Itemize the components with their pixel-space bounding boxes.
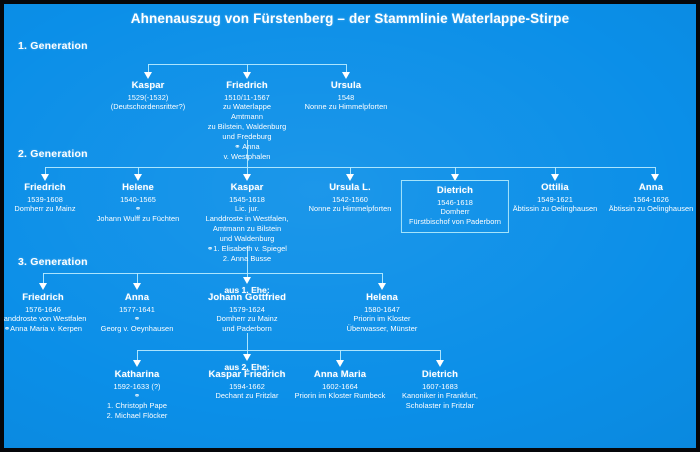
person-node-g2-anna[interactable]: Anna 1564-1626 Äbtissin zu Oelinghausen [609, 182, 694, 214]
person-name: Anna [609, 182, 694, 195]
person-marriage: ⚭ [101, 314, 174, 324]
person-name: Kaspar [206, 182, 289, 195]
person-detail: (Deutschordensritter?) [111, 102, 186, 112]
person-detail: 1592-1633 (?) [107, 382, 168, 392]
person-detail: 1529(-1532) [111, 93, 186, 103]
person-detail: 1579-1624 [208, 305, 286, 315]
person-node-g2-ursula-l[interactable]: Ursula L. 1542-1560 Nonne zu Himmelpfort… [309, 182, 392, 214]
person-detail: 1576-1646 [0, 305, 86, 315]
person-detail: 1564-1626 [609, 195, 694, 205]
person-detail: Priorin im Kloster Rumbeck [295, 391, 386, 401]
person-node-g3-anna-maria[interactable]: Anna Maria 1602-1664 Priorin im Kloster … [295, 369, 386, 401]
person-detail: Landdroste in Westfalen, [206, 214, 289, 224]
person-name: Ottilia [513, 182, 598, 195]
person-name: Friedrich [208, 80, 287, 93]
person-detail: 1577-1641 [101, 305, 174, 315]
person-name: Kaspar [111, 80, 186, 93]
person-node-g3-dietrich[interactable]: Dietrich 1607-1683 Kanoniker in Frankfur… [402, 369, 478, 411]
person-node-g1-kaspar[interactable]: Kaspar 1529(-1532) (Deutschordensritter?… [111, 80, 186, 112]
person-name: Johann Gottfried [208, 292, 286, 305]
person-detail: 1607-1683 [402, 382, 478, 392]
person-node-g2-helene[interactable]: Helene 1540-1565 ⚭ Johann Wulff zu Fücht… [97, 182, 180, 224]
person-detail: Amtmann [208, 112, 287, 122]
person-name: Ursula [305, 80, 388, 93]
gen2-arrow-kaspar [243, 174, 251, 181]
person-detail: Fürstbischof von Paderborn [409, 217, 501, 227]
person-name: Dietrich [409, 185, 501, 198]
person-detail: 1602-1664 [295, 382, 386, 392]
person-detail: Äbtissin zu Oelinghausen [513, 204, 598, 214]
gen3-ehe2-stem [247, 333, 248, 350]
gen3-arrow-dietrich [436, 360, 444, 367]
person-detail: Nonne zu Himmelpforten [309, 204, 392, 214]
gen3-arrow-johann-gottfried [243, 277, 251, 284]
person-name: Kaspar Friedrich [208, 369, 285, 382]
person-detail: Domherr [409, 207, 501, 217]
person-detail: zu Waterlappe [208, 102, 287, 112]
person-detail: 1545-1618 [206, 195, 289, 205]
gen2-arrow-helene [134, 174, 142, 181]
person-node-g3-helena[interactable]: Helena 1580-1647 Priorin im Kloster Über… [347, 292, 418, 334]
slide-frame-right [696, 0, 700, 452]
person-node-g3-kaspar-friedrich[interactable]: Kaspar Friedrich 1594-1662 Dechant zu Fr… [208, 369, 285, 401]
person-detail: zu Bilstein, Waldenburg [208, 122, 287, 132]
person-name: Katharina [107, 369, 168, 382]
person-marriage-second: 2. Anna Busse [206, 254, 289, 264]
person-marriage-spouse: ⚭Anna Maria v. Kerpen [0, 324, 86, 334]
gen1-arrow-kaspar [144, 72, 152, 79]
person-detail: Scholaster in Fritzlar [402, 401, 478, 411]
person-detail: Dechant zu Fritzlar [208, 391, 285, 401]
gen3-arrow-helena [378, 283, 386, 290]
person-node-g3-friedrich[interactable]: Friedrich 1576-1646 Landdroste von Westf… [0, 292, 86, 334]
person-marriage: ⚭1. Elisabeth v. Spiegel [206, 244, 289, 254]
person-marriage: ⚭ [97, 204, 180, 214]
person-node-g2-friedrich[interactable]: Friedrich 1539-1608 Domherr zu Mainz [14, 182, 75, 214]
person-marriage-spouse: Georg v. Oeynhausen [101, 324, 174, 334]
person-node-g3-anna[interactable]: Anna 1577-1641 ⚭ Georg v. Oeynhausen [101, 292, 174, 334]
generation-label-3: 3. Generation [18, 256, 88, 268]
person-detail: 1510/11-1567 [208, 93, 287, 103]
person-name: Dietrich [402, 369, 478, 382]
gen3-ehe1-connector-bus [43, 273, 382, 274]
chart-title: Ahnenauszug von Fürstenberg – der Stamml… [0, 11, 700, 26]
gen3-arrow-kaspar-friedrich [243, 354, 251, 361]
person-name: Ursula L. [309, 182, 392, 195]
person-name: Friedrich [0, 292, 86, 305]
person-node-g2-ottilia[interactable]: Ottilia 1549-1621 Äbtissin zu Oelinghaus… [513, 182, 598, 214]
slide-frame-bottom [0, 448, 700, 452]
person-detail: 1546-1618 [409, 198, 501, 208]
person-detail: Amtmann zu Bilstein [206, 224, 289, 234]
slide-frame-left [0, 0, 4, 452]
person-node-g1-friedrich[interactable]: Friedrich 1510/11-1567 zu Waterlappe Amt… [208, 80, 287, 162]
person-detail: Landdroste von Westfalen [0, 314, 86, 324]
person-detail: 1539-1608 [14, 195, 75, 205]
gen3-arrow-anna-maria [336, 360, 344, 367]
person-node-g2-dietrich[interactable]: Dietrich 1546-1618 Domherr Fürstbischof … [401, 180, 509, 233]
gen2-arrow-ursula-l [346, 174, 354, 181]
person-node-g2-kaspar[interactable]: Kaspar 1545-1618 Lic. jur. Landdroste in… [206, 182, 289, 264]
person-detail: Nonne zu Himmelpforten [305, 102, 388, 112]
gen3-ehe2-connector-bus [137, 350, 440, 351]
person-detail: Domherr zu Mainz [208, 314, 286, 324]
person-marriage-spouse: 1. Christoph Pape [107, 401, 168, 411]
gen3-arrow-friedrich [39, 283, 47, 290]
person-detail: 1594-1662 [208, 382, 285, 392]
person-detail: Lic. jur. [206, 204, 289, 214]
person-node-g3-johann-gottfried[interactable]: Johann Gottfried 1579-1624 Domherr zu Ma… [208, 292, 286, 334]
person-detail: und Waldenburg [206, 234, 289, 244]
person-detail: Kanoniker in Frankfurt, [402, 391, 478, 401]
gen1-arrow-ursula [342, 72, 350, 79]
person-detail: und Fredeburg [208, 132, 287, 142]
person-marriage-spouse: Johann Wulff zu Füchten [97, 214, 180, 224]
person-marriage: ⚭ Anna [208, 142, 287, 152]
person-name: Anna [101, 292, 174, 305]
generation-label-1: 1. Generation [18, 40, 88, 52]
person-node-g3-katharina[interactable]: Katharina 1592-1633 (?) ⚭ 1. Christoph P… [107, 369, 168, 421]
person-detail: 1540-1565 [97, 195, 180, 205]
person-node-g1-ursula[interactable]: Ursula 1548 Nonne zu Himmelpforten [305, 80, 388, 112]
gen3-arrow-anna [133, 283, 141, 290]
gen1-arrow-friedrich [243, 72, 251, 79]
person-marriage: ⚭ [107, 391, 168, 401]
person-detail: Überwasser, Münster [347, 324, 418, 334]
genealogy-slide: Ahnenauszug von Fürstenberg – der Stamml… [0, 0, 700, 452]
gen2-arrow-anna [651, 174, 659, 181]
person-name: Friedrich [14, 182, 75, 195]
person-detail: und Paderborn [208, 324, 286, 334]
person-name: Anna Maria [295, 369, 386, 382]
person-marriage-spouse: v. Westphalen [208, 152, 287, 162]
person-detail: 1542-1560 [309, 195, 392, 205]
person-marriage-spouse: 2. Michael Flöcker [107, 411, 168, 421]
person-detail: 1548 [305, 93, 388, 103]
person-detail: Äbtissin zu Oelinghausen [609, 204, 694, 214]
generation-label-2: 2. Generation [18, 148, 88, 160]
person-detail: Priorin im Kloster [347, 314, 418, 324]
person-detail: Domherr zu Mainz [14, 204, 75, 214]
person-detail: 1549-1621 [513, 195, 598, 205]
slide-frame-top [0, 0, 700, 4]
person-name: Helene [97, 182, 180, 195]
gen3-arrow-katharina [133, 360, 141, 367]
person-name: Helena [347, 292, 418, 305]
person-detail: 1580-1647 [347, 305, 418, 315]
gen2-arrow-friedrich [41, 174, 49, 181]
gen2-arrow-ottilia [551, 174, 559, 181]
